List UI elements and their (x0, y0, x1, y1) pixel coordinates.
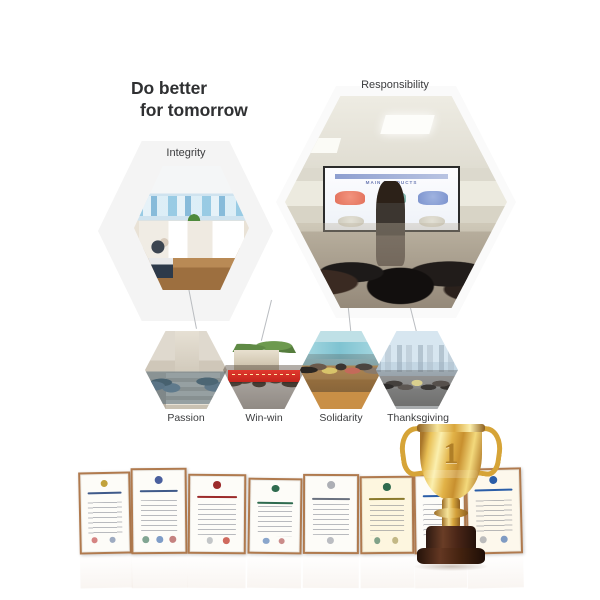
hexagon-photo-win-win[interactable] (223, 331, 305, 409)
hexagon-label-responsibility: Responsibility (320, 79, 470, 92)
slide-header-bar (335, 174, 447, 179)
certificate-seal (271, 485, 279, 492)
certificate-reflection (131, 554, 187, 589)
hexagon-label-passion: Passion (145, 412, 227, 425)
certificate-title-rule (312, 498, 350, 500)
certificate-stamp (206, 537, 213, 544)
hexagon-photo-passion[interactable] (145, 331, 227, 409)
certificate-title-rule (87, 491, 122, 494)
headline-line-1: Do better (131, 78, 207, 98)
ceiling-light-panel (380, 115, 434, 134)
certificate-body-text (88, 502, 122, 535)
hexagon-photo-thanksgiving[interactable] (376, 331, 458, 409)
certificate-body-text (313, 504, 349, 535)
trophy-shadow (414, 562, 488, 571)
certificate-seal (101, 479, 109, 487)
uniformed-team (145, 359, 227, 404)
certificates-gallery (0, 448, 600, 600)
trophy-highlight (424, 470, 477, 478)
hexagon-label-integrity: Integrity (130, 147, 242, 160)
certificate-reflection (187, 554, 245, 588)
indoor-event-group-photo (300, 331, 382, 409)
certificate-seal (213, 481, 221, 488)
city-skyline-group-photo (376, 331, 458, 409)
red-event-banner (228, 370, 300, 382)
certificate-stamp (169, 536, 176, 543)
group-photo-red-banner (223, 331, 305, 409)
certificate-stamp (156, 536, 163, 543)
city-skyline (376, 345, 458, 372)
certificate-seal (327, 481, 335, 488)
gold-trophy[interactable]: 1 (398, 424, 504, 574)
office-plants (185, 211, 203, 228)
certificate-item[interactable] (303, 474, 359, 554)
certificate-stamp (223, 537, 230, 544)
certificate-stamp (92, 537, 98, 544)
certificate-title-rule (140, 490, 178, 492)
trophy-rim (417, 424, 485, 432)
certificate-page (190, 476, 245, 552)
trophy-knot (434, 508, 468, 518)
certificate-title-rule (257, 502, 294, 505)
certificate-body-text (141, 500, 177, 534)
group-crowd (376, 370, 458, 406)
certificate-stamp (278, 538, 284, 544)
certificate-stamp (263, 538, 269, 544)
company-culture-infographic: Do better for tomorrow Integrity Respons… (0, 0, 600, 600)
certificate-reflection (247, 554, 301, 589)
team-outdoor-stairs-photo (145, 331, 227, 409)
certificate-seal (155, 476, 163, 484)
certificate-item[interactable] (247, 478, 302, 555)
certificate-page (133, 470, 186, 553)
certificate-item[interactable] (131, 468, 188, 555)
certificate-page (80, 474, 130, 553)
certificate-stamp (142, 536, 149, 543)
certificate-stamp (327, 537, 334, 544)
certificate-stamp (109, 536, 115, 543)
certificate-body-text (198, 503, 236, 534)
certificate-page (305, 476, 357, 552)
hexagon-photo-solidarity[interactable] (300, 331, 382, 409)
trophy-cup: 1 (420, 426, 482, 500)
certificate-reflection (303, 554, 359, 588)
certificate-item[interactable] (188, 474, 247, 554)
certificate-page (249, 480, 300, 553)
certificate-reflection (80, 553, 133, 588)
standing-group (300, 354, 382, 391)
trophy-number: 1 (420, 439, 482, 469)
certificate-stamp (374, 537, 380, 544)
certificate-body-text (257, 506, 292, 536)
certificate-item[interactable] (78, 471, 132, 554)
certificate-title-rule (197, 496, 237, 498)
hexagon-label-win-win: Win-win (223, 412, 305, 425)
certificate-seal (383, 483, 391, 490)
